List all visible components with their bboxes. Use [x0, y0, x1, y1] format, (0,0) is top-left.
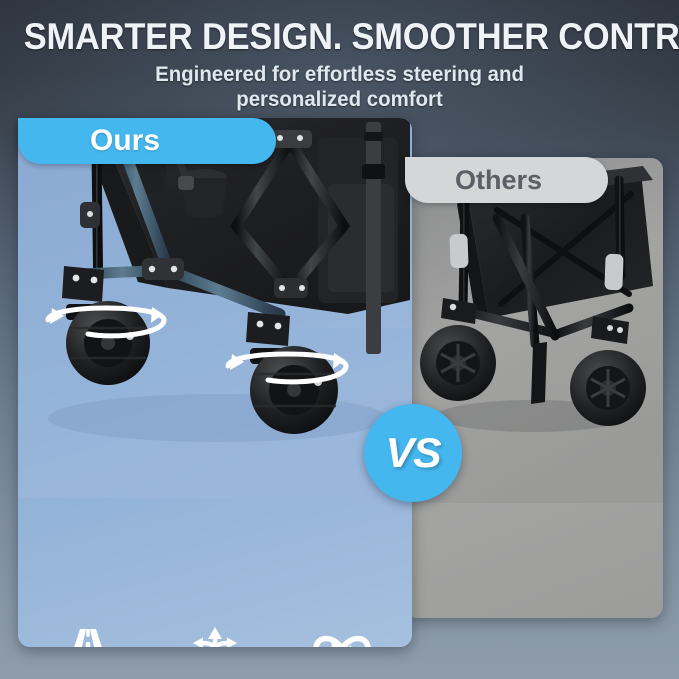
road-lanes-icon: [50, 621, 126, 647]
page-title: SMARTER DESIGN. SMOOTHER CONTROL: [24, 0, 655, 56]
header: SMARTER DESIGN. SMOOTHER CONTROL Enginee…: [0, 0, 679, 112]
page-subtitle: Engineered for effortless steering and p…: [17, 62, 662, 112]
others-badge-label: Others: [455, 165, 542, 196]
ours-feature-row: Tracks straight effortlessly: [18, 621, 412, 647]
others-panel: Hard to steer: [405, 158, 663, 618]
feature-smooth-stable-turning: Smooth stable turning: [279, 621, 406, 647]
comparison-infographic: SMARTER DESIGN. SMOOTHER CONTROL Enginee…: [0, 0, 679, 679]
our-wagon-illustration: [18, 118, 412, 498]
ours-panel: Tracks straight effortlessly: [18, 118, 412, 647]
ours-badge: Ours: [18, 118, 276, 164]
subtitle-line-1: Engineered for effortless steering and: [155, 62, 524, 86]
feature-tracks-straight: Tracks straight effortlessly: [24, 621, 151, 647]
vs-badge: VS: [364, 404, 462, 502]
vs-label: VS: [385, 429, 440, 477]
feature-easy-to-control: Easy to control: [151, 621, 278, 647]
others-badge: Others: [405, 157, 608, 203]
infinity-loop-icon: [300, 621, 384, 647]
subtitle-line-2: personalized comfort: [236, 87, 443, 111]
ours-badge-label: Ours: [90, 124, 160, 158]
multi-direction-arrow-icon: [179, 621, 251, 647]
ours-product-image: [18, 118, 412, 498]
